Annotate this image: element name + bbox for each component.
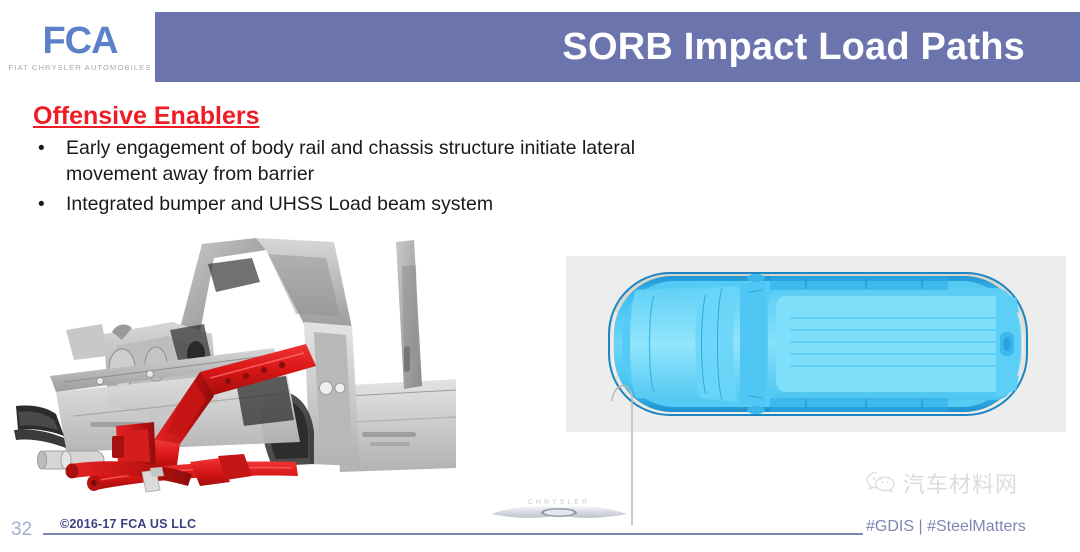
bullet-text: Early engagement of body rail and chassi… [66,137,635,185]
site-watermark: 汽车材料网 [866,471,1018,498]
bullet-item: • Early engagement of body rail and chas… [30,136,730,188]
vehicle-top-view-cae [566,256,1066,432]
wechat-icon [866,471,896,498]
copyright-notice: ©2016-17 FCA US LLC [60,518,196,531]
content-heading: Offensive Enablers [33,103,259,131]
bullet-dot-icon: • [38,136,45,161]
bullet-text: Integrated bumper and UHSS Load beam sys… [66,193,493,215]
vehicle-body-structure-cad [4,236,456,512]
slide-canvas: FCA FIAT CHRYSLER AUTOMOBILES SORB Impac… [0,0,1080,552]
svg-text:CHRYSLER: CHRYSLER [528,499,590,506]
header-band: SORB Impact Load Paths [155,12,1080,82]
page-number: 32 [11,520,32,539]
fca-logo-wordmark: FCA [42,22,117,60]
bullet-list: • Early engagement of body rail and chas… [30,136,730,222]
slide-title: SORB Impact Load Paths [562,28,1025,66]
footer-hashtags: #GDIS | #SteelMatters [866,519,1026,535]
fca-logo-tagline: FIAT CHRYSLER AUTOMOBILES [9,64,152,72]
chrysler-winged-badge: CHRYSLER [487,494,631,524]
fca-logo: FCA FIAT CHRYSLER AUTOMOBILES [10,20,150,78]
bullet-dot-icon: • [38,192,45,217]
watermark-text: 汽车材料网 [903,474,1018,496]
footer-divider [43,533,863,535]
bullet-item: • Integrated bumper and UHSS Load beam s… [30,192,730,218]
